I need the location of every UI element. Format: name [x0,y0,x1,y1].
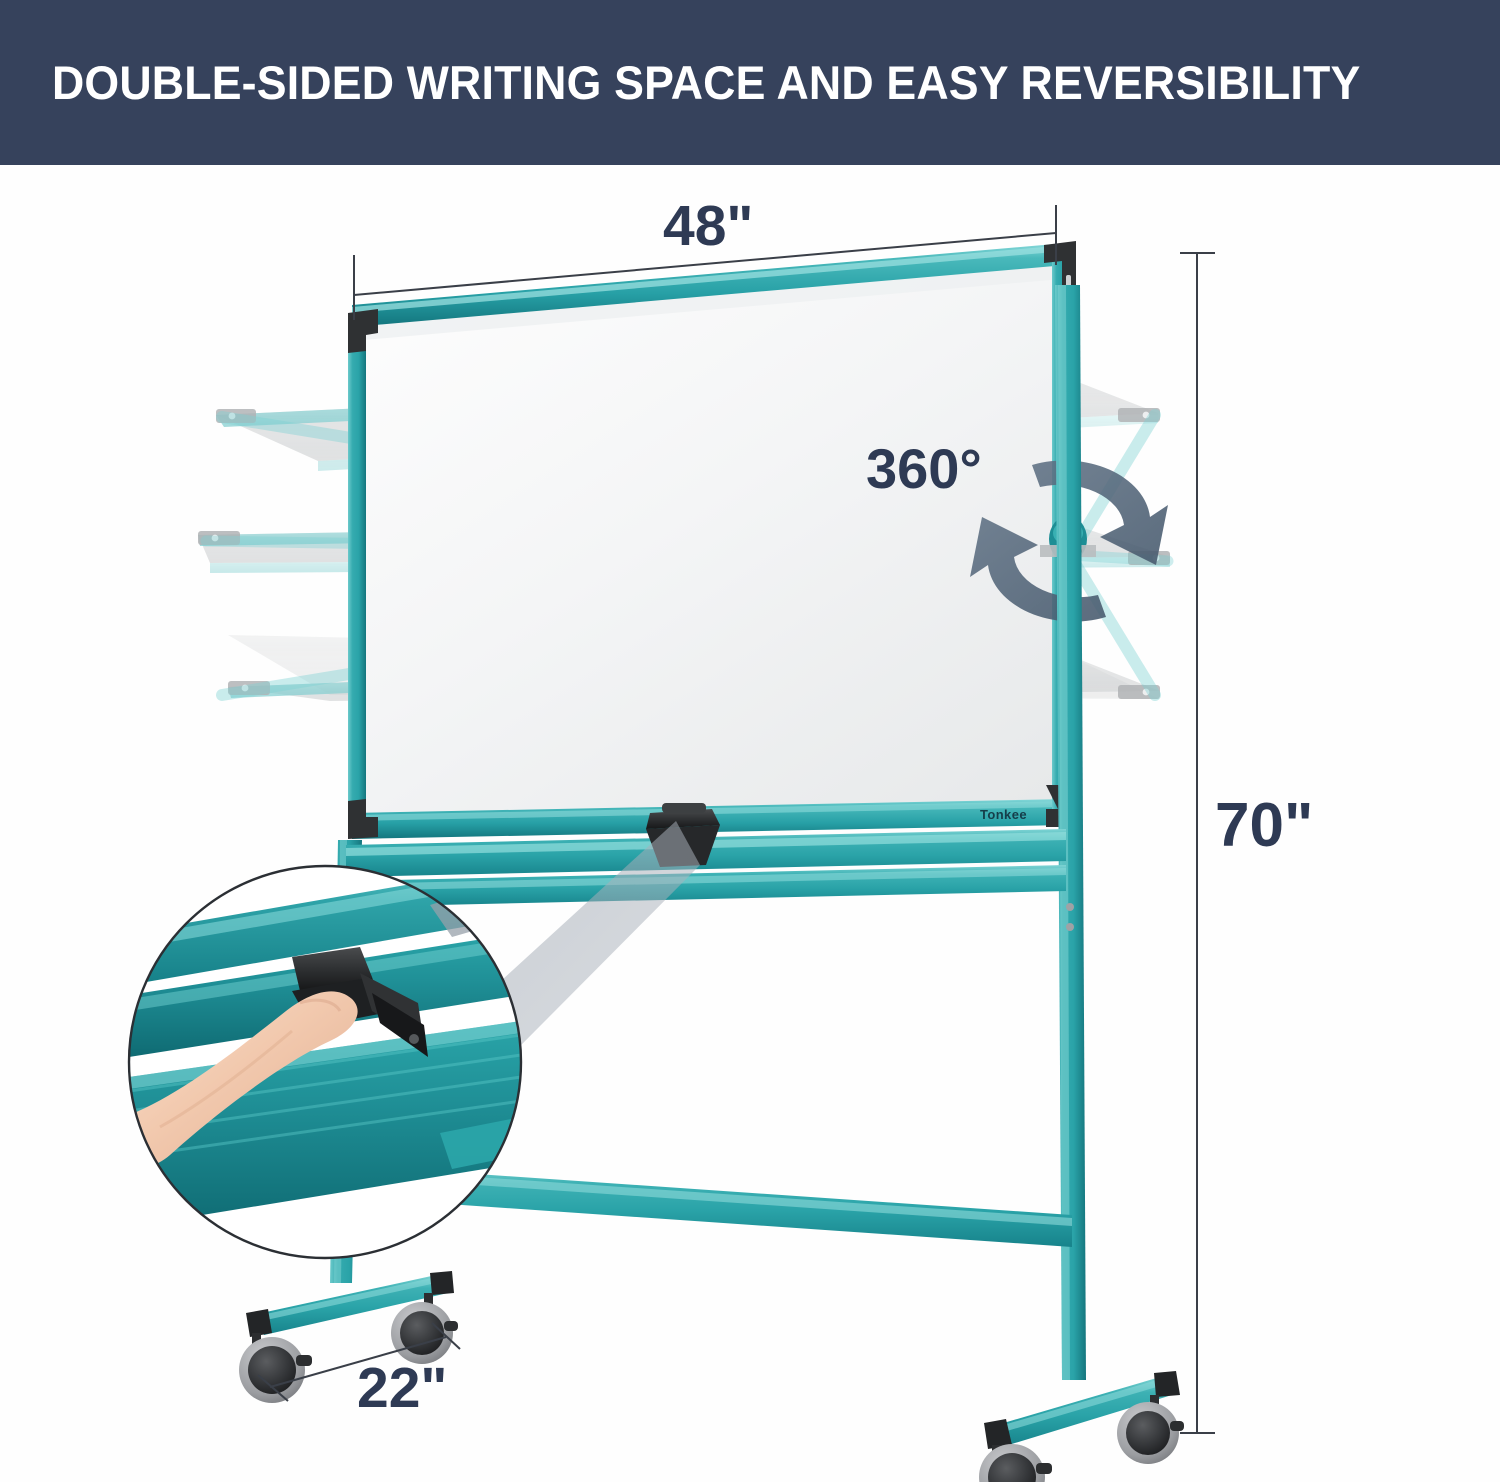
dimension-line-height [1180,253,1215,1433]
depth-dimension-label: 22" [357,1355,447,1421]
infographic-root: DOUBLE-SIDED WRITING SPACE AND EASY REVE… [0,0,1500,1482]
height-dimension-label: 70" [1215,790,1313,861]
width-dimension-label: 48" [663,193,753,259]
lock-lever-callout [129,865,521,1258]
brand-logo: Tonkee [980,807,1027,822]
svg-text:Tonkee: Tonkee [980,807,1027,822]
page-title: DOUBLE-SIDED WRITING SPACE AND EASY REVE… [52,55,1360,110]
caster [239,1333,312,1403]
base-right [979,1371,1184,1482]
caster [979,1444,1052,1482]
rotation-degrees-label: 360° [866,436,982,501]
header-banner: DOUBLE-SIDED WRITING SPACE AND EASY REVE… [0,0,1500,165]
whiteboard-panel [352,255,1062,830]
